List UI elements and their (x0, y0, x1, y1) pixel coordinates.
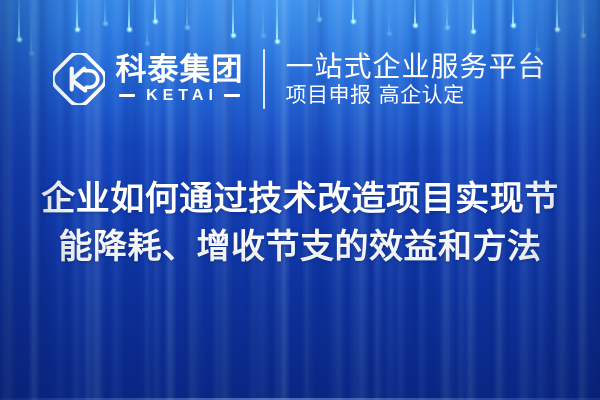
background-vignette (0, 0, 600, 400)
promo-banner: 科泰集团 KETAI 一站式企业服务平台 项目申报 高企认定 企业如何通过技术改… (0, 0, 600, 400)
